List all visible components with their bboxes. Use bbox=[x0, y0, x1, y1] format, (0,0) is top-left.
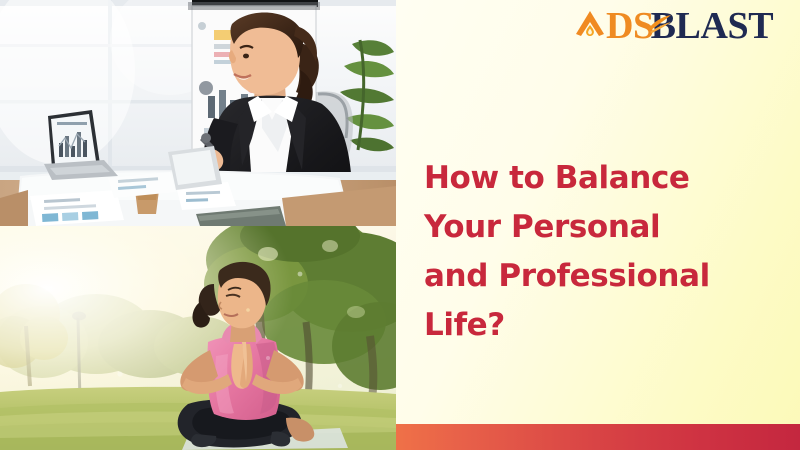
woman-meditating-in-park-photo bbox=[0, 226, 396, 450]
accent-bar bbox=[396, 424, 800, 450]
headline-line-1: How to Balance bbox=[424, 154, 784, 203]
headline-line-4: Life? bbox=[424, 301, 784, 350]
page-title: How to Balance Your Personal and Profess… bbox=[424, 154, 784, 350]
logo-text-ads: DS bbox=[606, 7, 654, 45]
flame-arrow-icon bbox=[575, 9, 605, 43]
headline-line-2: Your Personal bbox=[424, 203, 784, 252]
brand-logo[interactable]: DS BLAST bbox=[575, 4, 773, 48]
headline-line-3: and Professional bbox=[424, 252, 784, 301]
blog-banner-canvas: DS BLAST How to Balance Your Personal an… bbox=[0, 0, 800, 450]
logo-text-blast: BLAST bbox=[651, 5, 774, 47]
businesswoman-at-desk-photo bbox=[0, 0, 396, 226]
